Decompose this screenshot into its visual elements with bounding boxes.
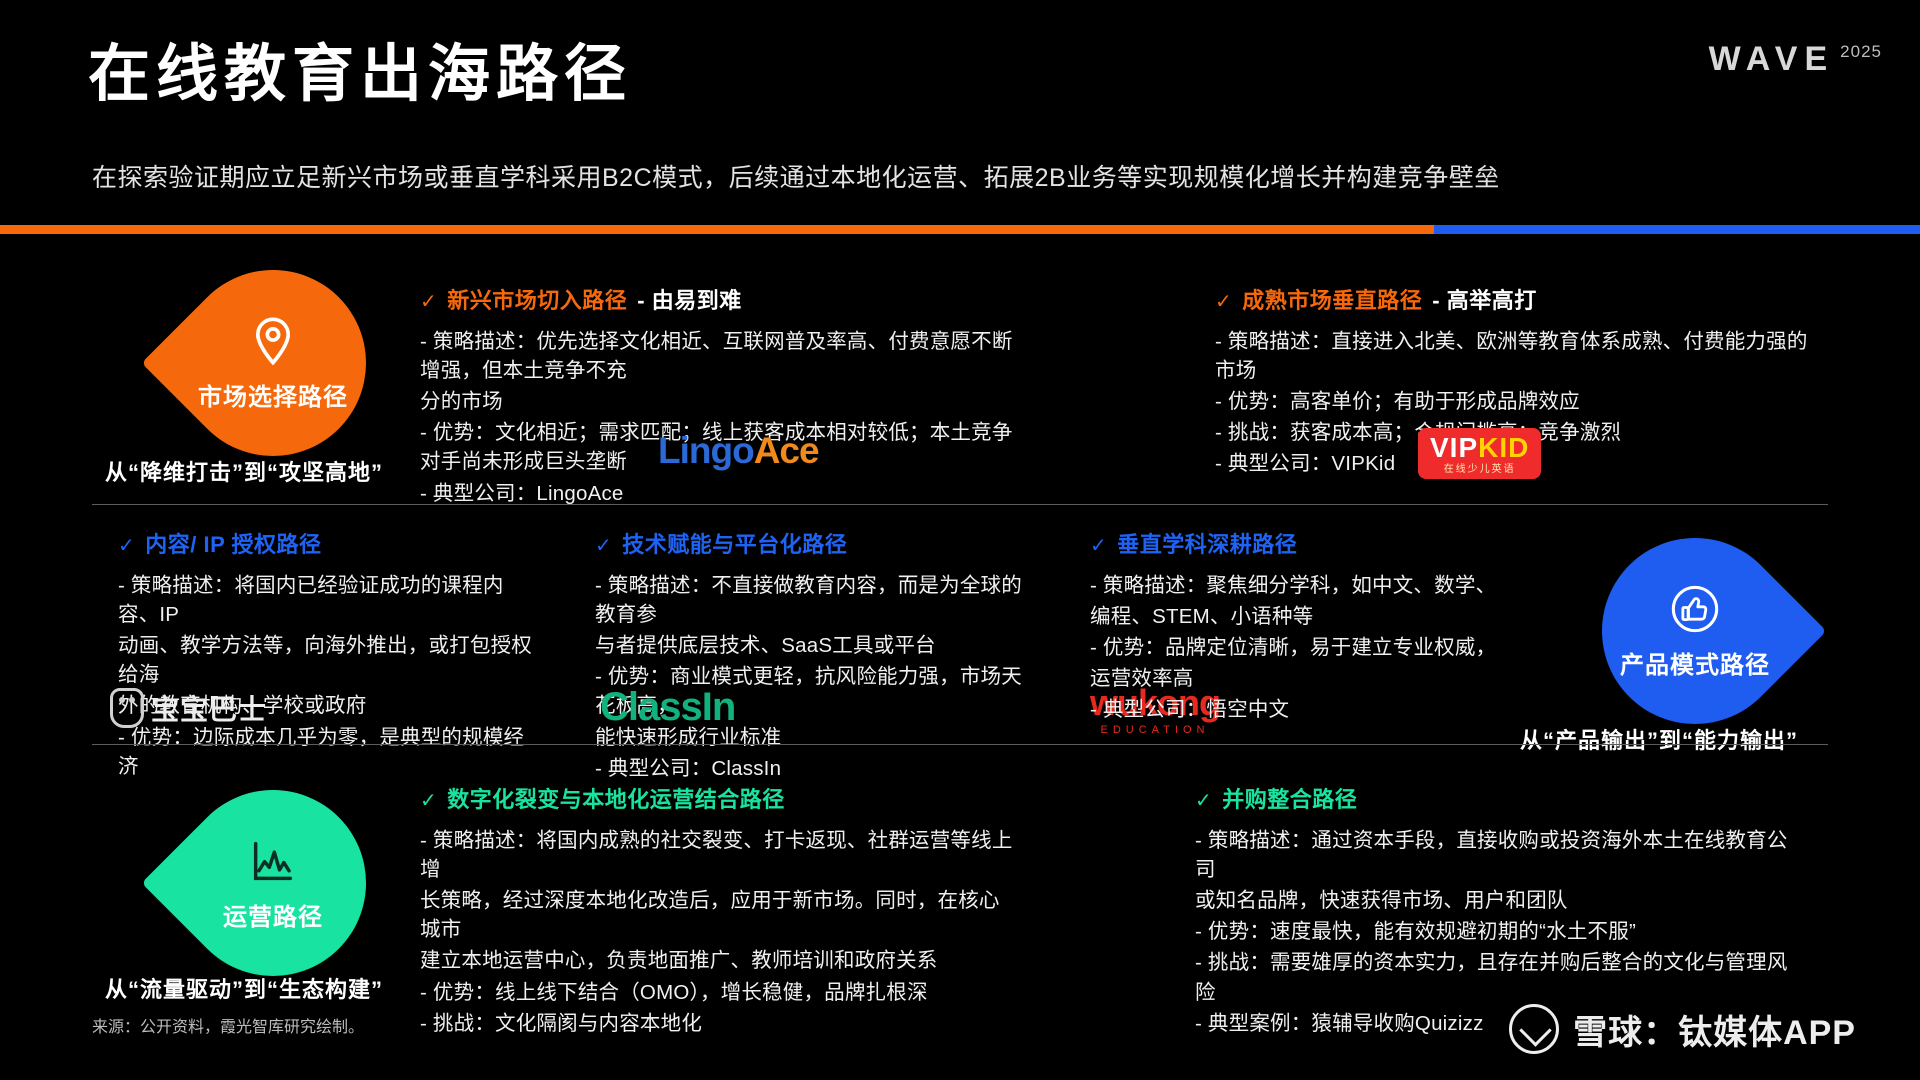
block-line: - 优势：高客单价；有助于形成品牌效应	[1215, 387, 1815, 416]
accent-rule	[0, 225, 1920, 234]
heading-text: 内容/ IP 授权路径	[145, 527, 321, 559]
watermark-text: 雪球：钛媒体APP	[1573, 1005, 1856, 1054]
heading-text: 成熟市场垂直路径	[1242, 283, 1422, 315]
block-line: 动画、教学方法等，向海外推出，或打包授权给海	[118, 631, 538, 689]
logo-babybus-wordmark: 宝宝巴士	[151, 688, 267, 728]
wave-logo: WAVE 2025	[1709, 40, 1882, 79]
check-icon: ✓	[118, 533, 135, 558]
source-note: 来源：公开资料，霞光智库研究绘制。	[92, 1013, 364, 1037]
pin-caption-operations: 从“流量驱动”到“生态构建”	[105, 972, 383, 1004]
block-heading: ✓ 技术赋能与平台化路径	[595, 527, 1025, 559]
logo-classin: ClassIn	[600, 685, 735, 730]
heading-text: 并购整合路径	[1222, 782, 1357, 814]
block-vertical-subject: ✓ 垂直学科深耕路径 - 策略描述：聚焦细分学科，如中文、数学、 编程、STEM…	[1090, 527, 1510, 727]
block-line: 分的市场	[420, 387, 1020, 416]
wave-year: 2025	[1840, 42, 1882, 62]
block-line: - 策略描述：优先选择文化相近、互联网普及率高、付费意愿不断增强，但本土竞争不充	[420, 327, 1020, 385]
logo-vipkid: VIPKID 在线少儿英语	[1418, 428, 1541, 479]
block-line: - 典型公司：悟空中文	[1090, 695, 1510, 724]
babybus-mark-icon	[110, 688, 144, 728]
block-tech-platform: ✓ 技术赋能与平台化路径 - 策略描述：不直接做教育内容，而是为全球的教育参 与…	[595, 527, 1025, 785]
location-pin-icon	[247, 315, 299, 367]
xueqiu-logo-icon	[1509, 1004, 1559, 1054]
block-heading: ✓ 垂直学科深耕路径	[1090, 527, 1510, 559]
wave-wordmark: WAVE	[1709, 40, 1835, 79]
block-heading: ✓ 数字化裂变与本地化运营结合路径	[420, 782, 1020, 814]
block-line: 建立本地运营中心，负责地面推广、教师培训和政府关系	[420, 946, 1020, 975]
check-icon: ✓	[420, 788, 437, 813]
logo-lingoace-part2: Ace	[754, 430, 819, 471]
block-line: - 策略描述：通过资本手段，直接收购或投资海外本土在线教育公司	[1195, 826, 1795, 884]
block-line: - 挑战：需要雄厚的资本实力，且存在并购后整合的文化与管理风险	[1195, 948, 1795, 1006]
accent-rule-orange	[0, 225, 1434, 234]
block-line: - 优势：线上线下结合（OMO），增长稳健，品牌扎根深	[420, 978, 1020, 1007]
block-line: 或知名品牌，快速获得市场、用户和团队	[1195, 886, 1795, 915]
check-icon: ✓	[1215, 289, 1232, 314]
block-line: 编程、STEM、小语种等	[1090, 602, 1510, 631]
block-heading: ✓ 成熟市场垂直路径 - 高举高打	[1215, 283, 1815, 315]
block-line: - 优势：速度最快，能有效规避初期的“水土不服”	[1195, 917, 1795, 946]
block-heading: ✓ 内容/ IP 授权路径	[118, 527, 538, 559]
divider-row1	[92, 504, 1828, 505]
logo-babybus: 宝宝巴士	[110, 688, 267, 728]
logo-lingoace-part1: Lingo	[658, 430, 754, 471]
pin-product-mode[interactable]: 产品模式路径	[1602, 538, 1788, 724]
block-heading: ✓ 并购整合路径	[1195, 782, 1795, 814]
check-icon: ✓	[420, 289, 437, 314]
block-digital-fission: ✓ 数字化裂变与本地化运营结合路径 - 策略描述：将国内成熟的社交裂变、打卡返现…	[420, 782, 1020, 1040]
logo-lingoace: LingoAce	[658, 430, 819, 472]
block-heading: ✓ 新兴市场切入路径 - 由易到难	[420, 283, 1020, 315]
heading-suffix: - 由易到难	[637, 283, 741, 315]
accent-rule-blue	[1434, 225, 1920, 234]
block-line: - 优势：品牌定位清晰，易于建立专业权威，	[1090, 633, 1510, 662]
pin-caption-product-mode: 从“产品输出”到“能力输出”	[1520, 723, 1798, 755]
block-line: - 策略描述：不直接做教育内容，而是为全球的教育参	[595, 571, 1025, 629]
heading-text: 数字化裂变与本地化运营结合路径	[447, 782, 785, 814]
block-emerging-market: ✓ 新兴市场切入路径 - 由易到难 - 策略描述：优先选择文化相近、互联网普及率…	[420, 283, 1020, 510]
logo-wukong-sub: EDUCATION	[1101, 725, 1210, 736]
block-line: - 策略描述：聚焦细分学科，如中文、数学、	[1090, 571, 1510, 600]
heading-text: 新兴市场切入路径	[447, 283, 627, 315]
pin-caption-market-selection: 从“降维打击”到“攻坚高地”	[105, 455, 383, 487]
pin-label: 产品模式路径	[1620, 645, 1770, 680]
logo-vipkid-wordmark: VIPKID	[1430, 434, 1529, 462]
block-line: 长策略，经过深度本地化改造后，应用于新市场。同时，在核心城市	[420, 886, 1020, 944]
block-line: - 策略描述：将国内成熟的社交裂变、打卡返现、社群运营等线上增	[420, 826, 1020, 884]
watermark: 雪球：钛媒体APP	[1509, 1004, 1856, 1054]
chart-growth-icon	[247, 835, 299, 887]
block-line: - 挑战：文化隔阂与内容本地化	[420, 1009, 1020, 1038]
slide-root: 在线教育出海路径 在探索验证期应立足新兴市场或垂直学科采用B2C模式，后续通过本…	[0, 0, 1920, 1080]
divider-row2	[92, 744, 1828, 745]
logo-classin-wordmark: ClassIn	[600, 685, 735, 730]
block-line: 与者提供底层技术、SaaS工具或平台	[595, 631, 1025, 660]
check-icon: ✓	[1090, 533, 1107, 558]
heading-suffix: - 高举高打	[1432, 283, 1536, 315]
check-icon: ✓	[1195, 788, 1212, 813]
block-line: 运营效率高	[1090, 664, 1510, 693]
pin-label: 市场选择路径	[198, 377, 348, 412]
thumbs-up-icon	[1669, 583, 1721, 635]
page-title: 在线教育出海路径	[88, 42, 632, 107]
block-line: - 策略描述：将国内已经验证成功的课程内容、IP	[118, 571, 538, 629]
pin-label: 运营路径	[223, 897, 323, 932]
heading-text: 技术赋能与平台化路径	[622, 527, 847, 559]
page-subtitle: 在探索验证期应立足新兴市场或垂直学科采用B2C模式，后续通过本地化运营、拓展2B…	[92, 158, 1500, 194]
pin-operations[interactable]: 运营路径	[180, 790, 366, 976]
block-line: - 典型公司：ClassIn	[595, 754, 1025, 783]
logo-vipkid-sub: 在线少儿英语	[1444, 465, 1516, 475]
pin-market-selection[interactable]: 市场选择路径	[180, 270, 366, 456]
block-ma-integration: ✓ 并购整合路径 - 策略描述：通过资本手段，直接收购或投资海外本土在线教育公司…	[1195, 782, 1795, 1040]
heading-text: 垂直学科深耕路径	[1117, 527, 1297, 559]
check-icon: ✓	[595, 533, 612, 558]
block-line: - 优势：边际成本几乎为零，是典型的规模经济	[118, 723, 538, 781]
block-line: - 策略描述：直接进入北美、欧洲等教育体系成熟、付费能力强的市场	[1215, 327, 1815, 385]
